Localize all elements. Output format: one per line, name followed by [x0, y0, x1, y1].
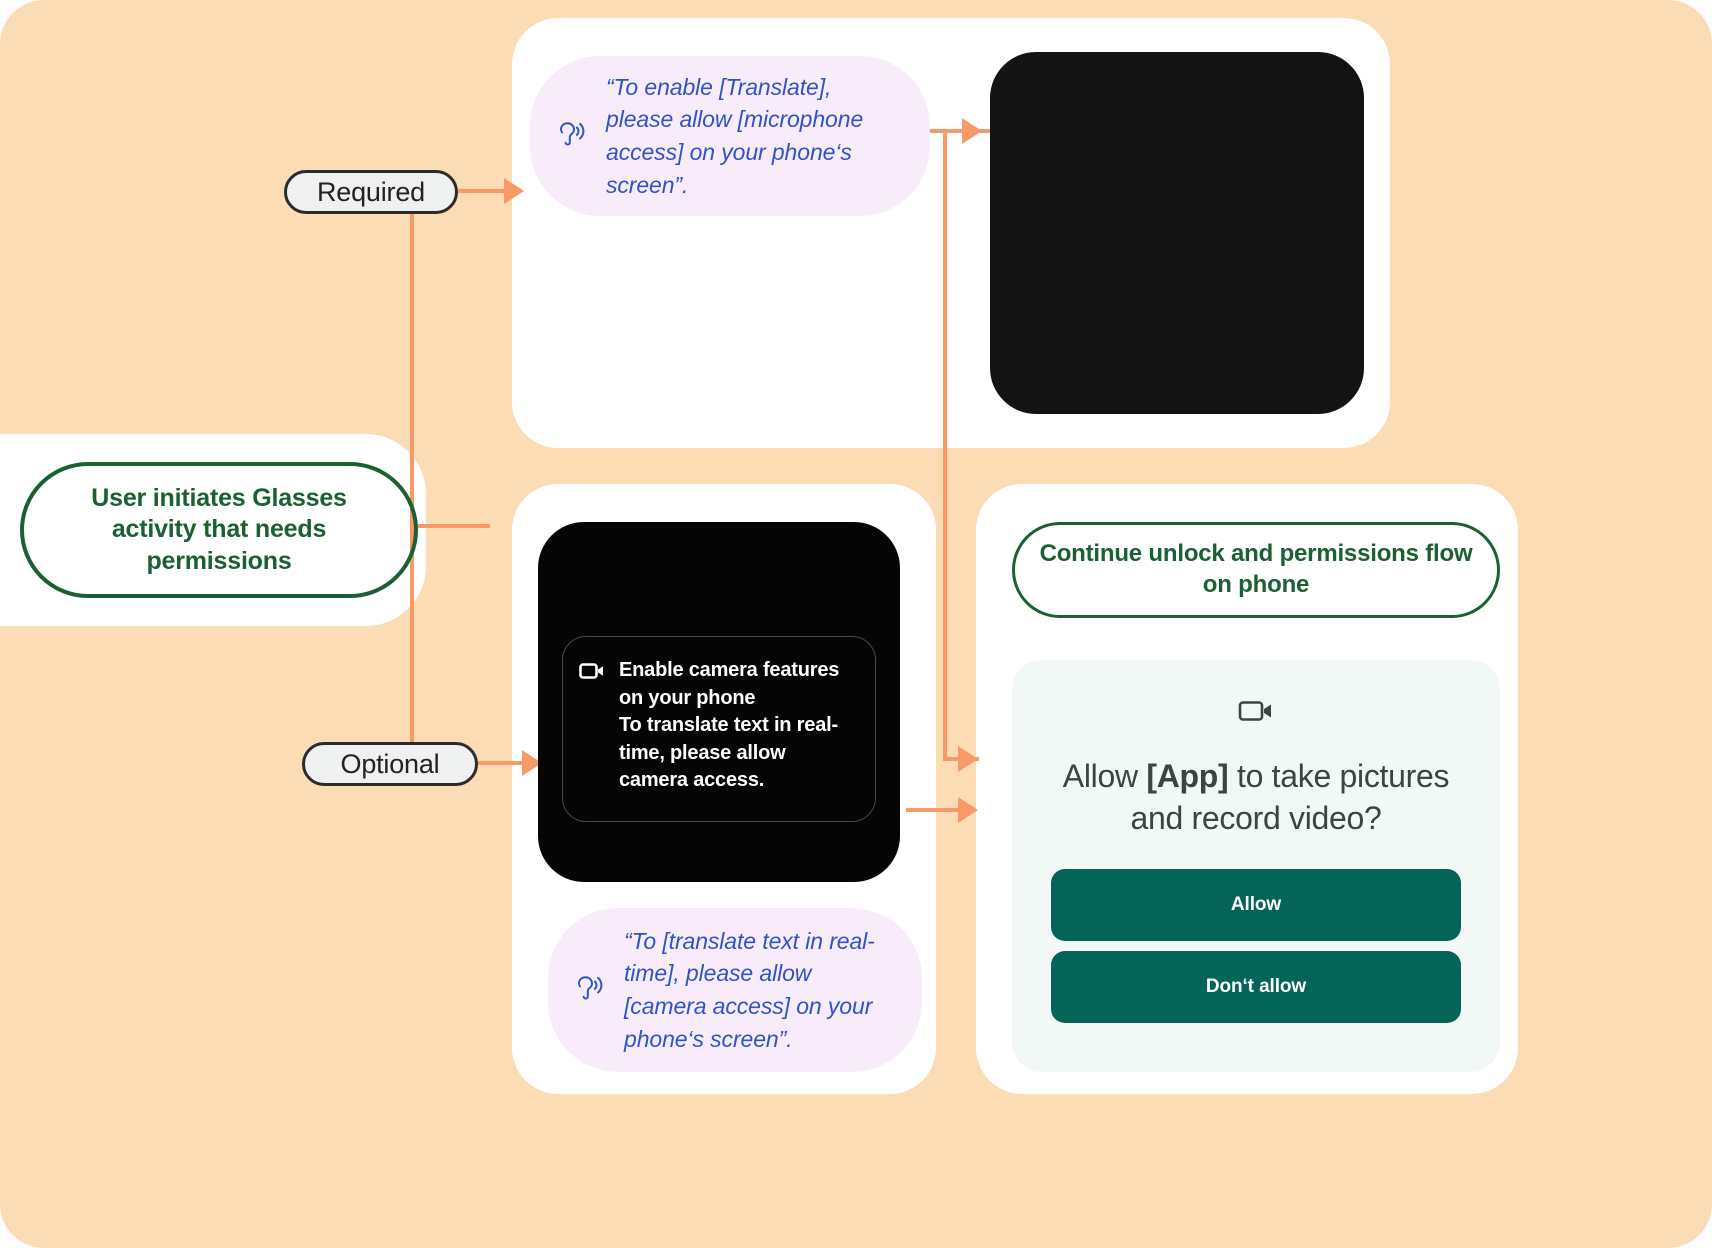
permission-dialog-question: Allow [App] to take pictures and record …: [1012, 755, 1500, 839]
glasses-notification-text: Enable camera features on your phone To …: [619, 657, 857, 821]
arrowhead-vertical-to-phone: [958, 746, 978, 772]
deny-button-label: Don‘t allow: [1206, 976, 1306, 998]
deny-button[interactable]: Don‘t allow: [1051, 951, 1461, 1023]
ear-hearing-icon: [570, 969, 608, 1012]
ear-hearing-icon: [552, 115, 590, 158]
permission-dialog: Allow [App] to take pictures and record …: [1012, 660, 1500, 1072]
branch-pill-optional[interactable]: Optional: [302, 742, 478, 786]
start-node-label: User initiates Glasses activity that nee…: [24, 483, 414, 578]
glasses-notification-body: To translate text in real-time, please a…: [619, 714, 838, 791]
branch-pill-required[interactable]: Required: [284, 170, 458, 214]
glasses-screen-required: [990, 52, 1364, 414]
optional-audio-bubble: “To [translate text in real-time], pleas…: [548, 908, 922, 1072]
connector-bubble-to-glasses-top: [930, 129, 992, 133]
connector-vertical-to-phone: [943, 131, 947, 761]
branch-pill-optional-label: Optional: [341, 749, 440, 780]
connector-vertical-trunk: [410, 192, 414, 764]
video-camera-icon: [579, 661, 605, 821]
permission-question-prefix: Allow: [1063, 758, 1147, 794]
glasses-notification-card: Enable camera features on your phone To …: [562, 636, 876, 822]
video-camera-icon: [1238, 698, 1274, 729]
allow-button-label: Allow: [1231, 894, 1281, 916]
continue-flow-label: Continue unlock and permissions flow on …: [1015, 539, 1497, 600]
allow-button[interactable]: Allow: [1051, 869, 1461, 941]
continue-flow-node[interactable]: Continue unlock and permissions flow on …: [1012, 522, 1500, 618]
glasses-notification-title: Enable camera features on your phone: [619, 659, 839, 709]
connector-required-to-bubble: [458, 189, 510, 193]
connector-start-to-trunk: [418, 524, 490, 528]
branch-pill-required-label: Required: [317, 177, 425, 208]
required-audio-bubble: “To enable [Translate], please allow [mi…: [530, 56, 930, 216]
required-audio-bubble-text: “To enable [Translate], please allow [mi…: [606, 71, 930, 202]
start-node[interactable]: User initiates Glasses activity that nee…: [20, 462, 418, 598]
optional-audio-bubble-text: “To [translate text in real-time], pleas…: [624, 925, 922, 1056]
diagram-canvas: User initiates Glasses activity that nee…: [0, 0, 1712, 1248]
arrowhead-glasses-bottom-to-dialog: [958, 797, 978, 823]
arrowhead-bubble-to-glasses-top: [962, 118, 982, 144]
arrowhead-required-to-bubble: [504, 178, 524, 204]
permission-question-app: [App]: [1146, 758, 1228, 794]
